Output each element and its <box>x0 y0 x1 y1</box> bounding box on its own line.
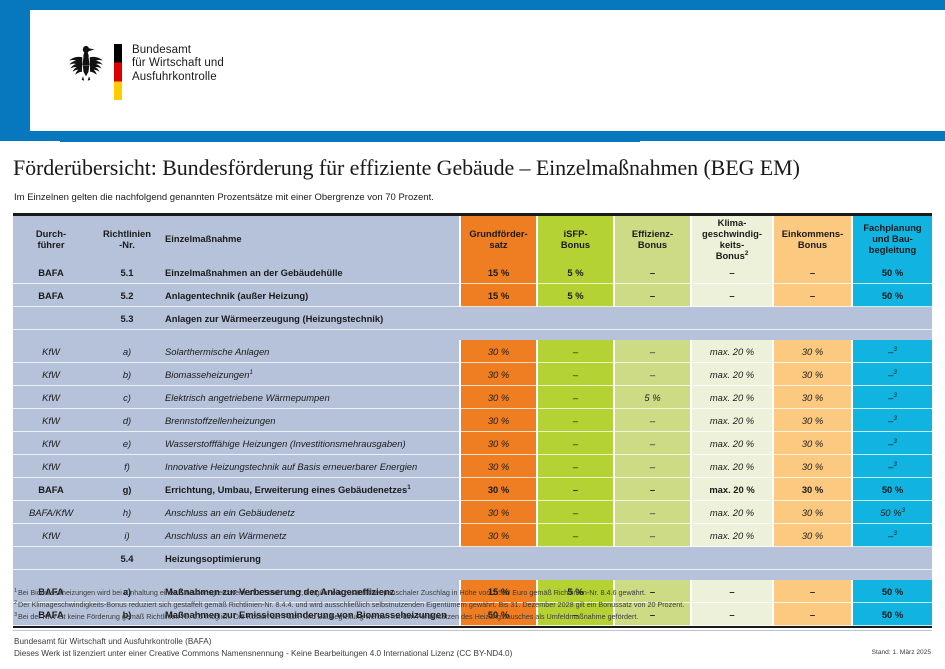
cell-richtlinien-nr: f) <box>89 455 165 478</box>
logo-text: Bundesamt für Wirtschaft und Ausfuhrkont… <box>132 43 224 84</box>
table-row: KfWf)Innovative Heizungstechnik auf Basi… <box>13 455 932 478</box>
table-section-row: 5.3Anlagen zur Wärmeerzeugung (Heizungst… <box>13 307 932 330</box>
cell-einzelmassnahme: Anlagen zur Wärmeerzeugung (Heizungstech… <box>165 307 460 330</box>
cell-eink: 30 % <box>773 478 852 501</box>
cell-grund: 30 % <box>460 524 537 547</box>
cell-richtlinien-nr: 5.1 <box>89 261 165 284</box>
cell-eff: – <box>614 340 691 363</box>
cell-eink: 30 % <box>773 386 852 409</box>
cell-eff: – <box>614 478 691 501</box>
cell-eink: 30 % <box>773 432 852 455</box>
cell-footnote-marker: 3 <box>893 345 896 352</box>
funding-table: Durch- führer Richtlinien -Nr. Einzelmaß… <box>13 213 932 628</box>
col-header-durchfuehrer: Durch- führer <box>13 216 89 261</box>
cell-fach: –3 <box>852 386 932 409</box>
footnote-item: 3Bei der KfW ist keine Förderung gemäß R… <box>14 611 929 623</box>
cell-richtlinien-nr: g) <box>89 478 165 501</box>
cell-grund: 30 % <box>460 409 537 432</box>
cell-richtlinien-nr: h) <box>89 501 165 524</box>
footnote-marker: 1 <box>14 588 17 594</box>
cell-footnote-marker: 3 <box>893 391 896 398</box>
cell-durchfuehrer: BAFA/KfW <box>13 501 89 524</box>
cell-section-blank <box>460 547 932 570</box>
col-header-isfp-l1: iSFP- <box>564 228 588 239</box>
table-spacer-row <box>13 330 932 341</box>
cell-klima: max. 20 % <box>691 432 773 455</box>
cell-isfp: – <box>537 386 614 409</box>
cell-fach: –3 <box>852 340 932 363</box>
cell-footnote-marker: 3 <box>893 437 896 444</box>
cell-einzelmassnahme: Einzelmaßnahmen an der Gebäudehülle <box>165 261 460 284</box>
cell-klima: max. 20 % <box>691 386 773 409</box>
col-header-eff-l2: Bonus <box>638 239 667 250</box>
col-header-richtlinien-l1: Richtlinien <box>103 228 151 239</box>
cell-eink: – <box>773 284 852 307</box>
cell-grund: 30 % <box>460 386 537 409</box>
cell-klima: – <box>691 284 773 307</box>
page-title: Förderübersicht: Bundesförderung für eff… <box>13 155 933 181</box>
col-header-eink-l1: Einkommens- <box>782 228 843 239</box>
cell-grund: 30 % <box>460 455 537 478</box>
col-header-grund-l2: satz <box>489 239 507 250</box>
logo-line-3: Ausfuhrkontrolle <box>132 71 224 84</box>
cell-einzelmassnahme: Biomasseheizungen1 <box>165 363 460 386</box>
cell-einzelmassnahme: Anschluss an ein Wärmenetz <box>165 524 460 547</box>
table-row: KfWe)Wasserstofffähige Heizungen (Invest… <box>13 432 932 455</box>
col-header-richtlinien-nr: Richtlinien -Nr. <box>89 216 165 261</box>
cell-richtlinien-nr: b) <box>89 363 165 386</box>
col-header-eink-l2: Bonus <box>798 239 827 250</box>
cell-isfp: 5 % <box>537 261 614 284</box>
col-header-fach-l2: und Bau- <box>872 233 913 244</box>
cell-eink: – <box>773 261 852 284</box>
col-header-einzelmassnahme: Einzelmaßnahme <box>165 216 460 261</box>
cell-eff: – <box>614 363 691 386</box>
table-row: KfWd)Brennstoffzellenheizungen30 %––max.… <box>13 409 932 432</box>
table-section-row: 5.4Heizungsoptimierung <box>13 547 932 570</box>
col-header-durchfuehrer-l2: führer <box>37 239 64 250</box>
cell-durchfuehrer: BAFA <box>13 261 89 284</box>
funding-table-wrapper: Durch- führer Richtlinien -Nr. Einzelmaß… <box>13 213 932 628</box>
col-header-grundfoerdersatz: Grundförder- satz <box>460 216 537 261</box>
german-flag-bar-icon <box>114 44 122 100</box>
cell-eink: 30 % <box>773 501 852 524</box>
cell-eff: – <box>614 455 691 478</box>
table-row: BAFAg)Errichtung, Umbau, Erweiterung ein… <box>13 478 932 501</box>
footnote-text: Bei der KfW ist keine Förderung gemäß Ri… <box>18 612 638 621</box>
cell-eff: – <box>614 524 691 547</box>
cell-section-blank <box>460 307 932 330</box>
cell-grund: 30 % <box>460 340 537 363</box>
cell-isfp: – <box>537 478 614 501</box>
cell-richtlinien-nr: 5.4 <box>89 547 165 570</box>
cell-klima: – <box>691 261 773 284</box>
footer-line-2: Dieses Werk ist lizenziert unter einer C… <box>14 648 512 660</box>
cell-richtlinien-nr: c) <box>89 386 165 409</box>
table-body: BAFA5.1Einzelmaßnahmen an der Gebäudehül… <box>13 261 932 626</box>
cell-klima: max. 20 % <box>691 340 773 363</box>
cell-footnote-marker: 3 <box>901 506 904 513</box>
col-header-klima-bonus: Klima- geschwindig- keits- Bonus2 <box>691 216 773 261</box>
cell-isfp: – <box>537 340 614 363</box>
cell-durchfuehrer: KfW <box>13 386 89 409</box>
cell-footnote-marker: 3 <box>893 368 896 375</box>
col-header-fach-l1: Fachplanung <box>863 222 921 233</box>
table-spacer-cell <box>13 570 932 581</box>
table-row: KfWi)Anschluss an ein Wärmenetz30 %––max… <box>13 524 932 547</box>
cell-durchfuehrer: KfW <box>13 409 89 432</box>
table-header: Durch- führer Richtlinien -Nr. Einzelmaß… <box>13 213 932 261</box>
cell-eff: – <box>614 432 691 455</box>
cell-durchfuehrer: KfW <box>13 432 89 455</box>
cell-isfp: – <box>537 455 614 478</box>
table-spacer-cell <box>13 330 932 341</box>
col-header-fach-l3: begleitung <box>869 244 916 255</box>
cell-klima: max. 20 % <box>691 524 773 547</box>
cell-isfp: – <box>537 363 614 386</box>
cell-footnote-marker: 3 <box>893 414 896 421</box>
logo-line-2: für Wirtschaft und <box>132 57 224 70</box>
cell-einzelmassnahme: Heizungsoptimierung <box>165 547 460 570</box>
cell-fach: 50 % <box>852 261 932 284</box>
col-header-klima-l2: geschwindig- <box>702 228 762 239</box>
cell-fach: –3 <box>852 455 932 478</box>
table-footer <box>13 626 932 629</box>
col-header-eff-l1: Effizienz- <box>632 228 673 239</box>
cell-einzelmassnahme: Elektrisch angetriebene Wärmepumpen <box>165 386 460 409</box>
cell-isfp: – <box>537 524 614 547</box>
cell-eink: 30 % <box>773 455 852 478</box>
footnote-text: Der Klimageschwindigkeits-Bonus reduzier… <box>18 600 684 609</box>
page-subtitle: Im Einzelnen gelten die nachfolgend gena… <box>14 192 934 204</box>
logo-line-1: Bundesamt <box>132 44 224 57</box>
table-header-row: Durch- führer Richtlinien -Nr. Einzelmaß… <box>13 216 932 261</box>
cell-durchfuehrer: KfW <box>13 363 89 386</box>
cell-grund: 30 % <box>460 501 537 524</box>
table-row: KfWb)Biomasseheizungen130 %––max. 20 %30… <box>13 363 932 386</box>
cell-grund: 30 % <box>460 478 537 501</box>
cell-klima: max. 20 % <box>691 409 773 432</box>
cell-richtlinien-nr: 5.3 <box>89 307 165 330</box>
footnote-item: 2Der Klimageschwindigkeits-Bonus reduzie… <box>14 599 929 611</box>
col-header-klima-l3: keits- <box>720 239 745 250</box>
cell-einzelmassnahme: Anschluss an ein Gebäudenetz <box>165 501 460 524</box>
cell-footnote-marker: 1 <box>407 483 410 490</box>
cell-isfp: 5 % <box>537 284 614 307</box>
cell-klima: max. 20 % <box>691 478 773 501</box>
cell-durchfuehrer: KfW <box>13 340 89 363</box>
cell-footnote-marker: 1 <box>249 368 252 375</box>
footnote-item: 1Bei Biomasseheizungen wird bei Einhaltu… <box>14 587 929 599</box>
table-row: BAFA5.1Einzelmaßnahmen an der Gebäudehül… <box>13 261 932 284</box>
cell-grund: 30 % <box>460 432 537 455</box>
cell-eff: 5 % <box>614 386 691 409</box>
cell-richtlinien-nr: 5.2 <box>89 284 165 307</box>
header-divider <box>60 141 640 142</box>
cell-eff: – <box>614 409 691 432</box>
cell-richtlinien-nr: e) <box>89 432 165 455</box>
cell-grund: 15 % <box>460 261 537 284</box>
col-header-einkommens-bonus: Einkommens- Bonus <box>773 216 852 261</box>
table-row: BAFA5.2Anlagentechnik (außer Heizung)15 … <box>13 284 932 307</box>
footer-stand-date: Stand: 1. März 2025 <box>872 649 931 656</box>
cell-durchfuehrer: BAFA <box>13 478 89 501</box>
cell-isfp: – <box>537 409 614 432</box>
cell-klima: max. 20 % <box>691 501 773 524</box>
cell-klima: max. 20 % <box>691 455 773 478</box>
cell-eff: – <box>614 284 691 307</box>
cell-richtlinien-nr: d) <box>89 409 165 432</box>
col-header-klima-l4: Bonus <box>716 250 745 261</box>
bafa-logo: Bundesamt für Wirtschaft und Ausfuhrkont… <box>68 43 224 100</box>
col-header-richtlinien-l2: -Nr. <box>119 239 135 250</box>
cell-einzelmassnahme: Errichtung, Umbau, Erweiterung eines Geb… <box>165 478 460 501</box>
table-spacer-row <box>13 570 932 581</box>
cell-fach: 50 % <box>852 478 932 501</box>
col-header-isfp-l2: Bonus <box>561 239 590 250</box>
cell-einzelmassnahme: Wasserstofffähige Heizungen (Investition… <box>165 432 460 455</box>
col-header-isfp-bonus: iSFP- Bonus <box>537 216 614 261</box>
cell-isfp: – <box>537 501 614 524</box>
cell-isfp: – <box>537 432 614 455</box>
col-header-klima-l1: Klima- <box>718 217 747 228</box>
cell-fach: –3 <box>852 432 932 455</box>
col-header-fachplanung: Fachplanung und Bau- begleitung <box>852 216 932 261</box>
cell-footnote-marker: 3 <box>893 460 896 467</box>
col-header-effizienz-bonus: Effizienz- Bonus <box>614 216 691 261</box>
cell-einzelmassnahme: Solarthermische Anlagen <box>165 340 460 363</box>
cell-eff: – <box>614 261 691 284</box>
table-row: KfWa)Solarthermische Anlagen30 %––max. 2… <box>13 340 932 363</box>
header-white-panel: Bundesamt für Wirtschaft und Ausfuhrkont… <box>30 10 945 131</box>
cell-eink: 30 % <box>773 524 852 547</box>
cell-footnote-marker: 3 <box>893 529 896 536</box>
cell-durchfuehrer <box>13 547 89 570</box>
cell-fach: –3 <box>852 409 932 432</box>
footer-line-1: Bundesamt für Wirtschaft und Ausfuhrkont… <box>14 636 512 648</box>
cell-grund: 15 % <box>460 284 537 307</box>
cell-einzelmassnahme: Brennstoffzellenheizungen <box>165 409 460 432</box>
footer-divider <box>13 630 932 631</box>
cell-fach: –3 <box>852 363 932 386</box>
header-band: Bundesamt für Wirtschaft und Ausfuhrkont… <box>0 0 945 141</box>
cell-richtlinien-nr: a) <box>89 340 165 363</box>
footnote-marker: 2 <box>14 600 17 606</box>
cell-einzelmassnahme: Anlagentechnik (außer Heizung) <box>165 284 460 307</box>
cell-richtlinien-nr: i) <box>89 524 165 547</box>
cell-durchfuehrer: BAFA <box>13 284 89 307</box>
federal-eagle-icon <box>68 43 104 83</box>
cell-einzelmassnahme: Innovative Heizungstechnik auf Basis ern… <box>165 455 460 478</box>
footnotes-block: 1Bei Biomasseheizungen wird bei Einhaltu… <box>14 587 929 623</box>
cell-durchfuehrer: KfW <box>13 455 89 478</box>
cell-eink: 30 % <box>773 409 852 432</box>
footnote-marker: 3 <box>14 612 17 618</box>
document-page: Bundesamt für Wirtschaft und Ausfuhrkont… <box>0 0 945 669</box>
cell-fach: –3 <box>852 524 932 547</box>
col-header-klima-footnote-marker: 2 <box>745 249 748 256</box>
cell-durchfuehrer <box>13 307 89 330</box>
cell-fach: 50 % <box>852 284 932 307</box>
table-row: BAFA/KfWh)Anschluss an ein Gebäudenetz30… <box>13 501 932 524</box>
table-row: KfWc)Elektrisch angetriebene Wärmepumpen… <box>13 386 932 409</box>
col-header-durchfuehrer-l1: Durch- <box>36 228 66 239</box>
cell-durchfuehrer: KfW <box>13 524 89 547</box>
col-header-grund-l1: Grundförder- <box>469 228 527 239</box>
cell-grund: 30 % <box>460 363 537 386</box>
cell-eff: – <box>614 501 691 524</box>
cell-eink: 30 % <box>773 363 852 386</box>
cell-fach: 50 %3 <box>852 501 932 524</box>
footnote-text: Bei Biomasseheizungen wird bei Einhaltun… <box>18 588 646 597</box>
cell-eink: 30 % <box>773 340 852 363</box>
footer-block: Bundesamt für Wirtschaft und Ausfuhrkont… <box>14 636 512 659</box>
table-bottom-rule <box>13 626 932 629</box>
cell-klima: max. 20 % <box>691 363 773 386</box>
